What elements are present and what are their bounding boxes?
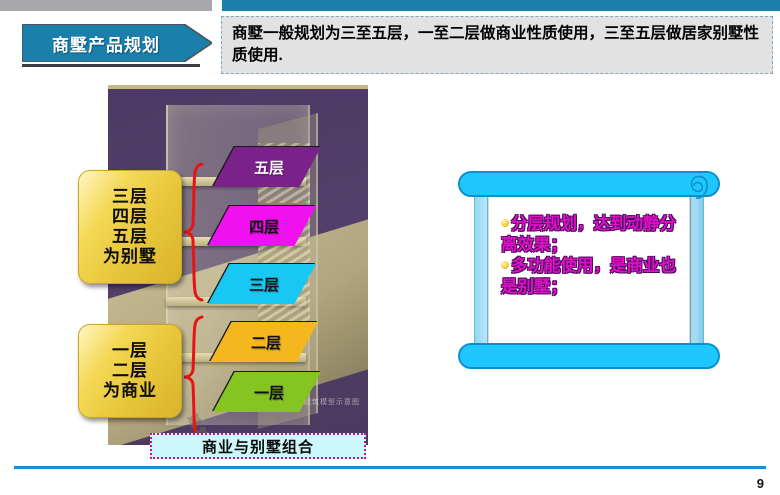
- footer-rule: [14, 466, 766, 469]
- bullet-dot-icon: [501, 261, 509, 269]
- floor-plate-label-1: 一层: [254, 382, 284, 403]
- callout-commercial-line-1: 一层: [112, 341, 148, 361]
- scroll-curl-icon: [688, 173, 714, 203]
- floor-plate-label-3: 三层: [249, 274, 279, 295]
- callout-villa-floors: 三层 四层 五层 为别墅: [78, 170, 182, 284]
- page-number: 9: [757, 476, 764, 491]
- scroll-bottom-bar: [458, 343, 720, 369]
- title-banner: 商墅产品规划: [22, 24, 212, 62]
- scroll-left-edge: [474, 189, 488, 351]
- floor-plate-label-5: 五层: [254, 157, 284, 178]
- callout-villa-line-3: 五层: [112, 227, 148, 247]
- photo-caption-text: 商业与别墅组合: [202, 436, 314, 457]
- note-scroll: 分层规划，达到动静分离效果； 多功能使用，是商业也是别墅；: [458, 171, 720, 369]
- callout-villa-line-2: 四层: [112, 207, 148, 227]
- floor-plate-label-2: 二层: [251, 332, 281, 353]
- note-bullet-2-row: 多功能使用，是商业也是别墅；: [501, 256, 679, 298]
- top-bar-gray: [0, 0, 212, 11]
- callout-villa-line-1: 三层: [112, 187, 148, 207]
- scroll-top-bar: [458, 171, 720, 197]
- description-text: 商墅一般规划为三至五层，一至二层做商业性质使用，三至五层做居家别墅性质使用.: [232, 23, 764, 68]
- title-underline: [22, 64, 200, 67]
- note-bullet-2: 多功能使用，是商业也是别墅；: [501, 257, 676, 296]
- floor-plate-label-4: 四层: [249, 216, 279, 237]
- scroll-paper: 分层规划，达到动静分离效果； 多功能使用，是商业也是别墅；: [488, 191, 690, 349]
- scroll-right-edge: [690, 189, 704, 351]
- bullet-dot-icon: [501, 219, 509, 227]
- slide-canvas: 商墅产品规划 商墅一般规划为三至五层，一至二层做商业性质使用，三至五层做居家别墅…: [0, 0, 780, 495]
- top-bar-blue: [222, 0, 780, 11]
- page-title: 商墅产品规划: [22, 24, 190, 62]
- note-bullet-1-row: 分层规划，达到动静分离效果；: [501, 214, 679, 256]
- description-box: 商墅一般规划为三至五层，一至二层做商业性质使用，三至五层做居家别墅性质使用.: [221, 16, 773, 74]
- photo-watermark: 建筑模型示意图: [304, 397, 360, 407]
- note-bullet-1: 分层规划，达到动静分离效果；: [501, 215, 676, 254]
- callout-commercial-line-3: 为商业: [103, 381, 157, 401]
- callout-commercial-line-2: 二层: [112, 361, 148, 381]
- photo-caption: 商业与别墅组合: [150, 433, 366, 459]
- callout-commercial-floors: 一层 二层 为商业: [78, 324, 182, 418]
- callout-villa-line-4: 为别墅: [103, 247, 157, 267]
